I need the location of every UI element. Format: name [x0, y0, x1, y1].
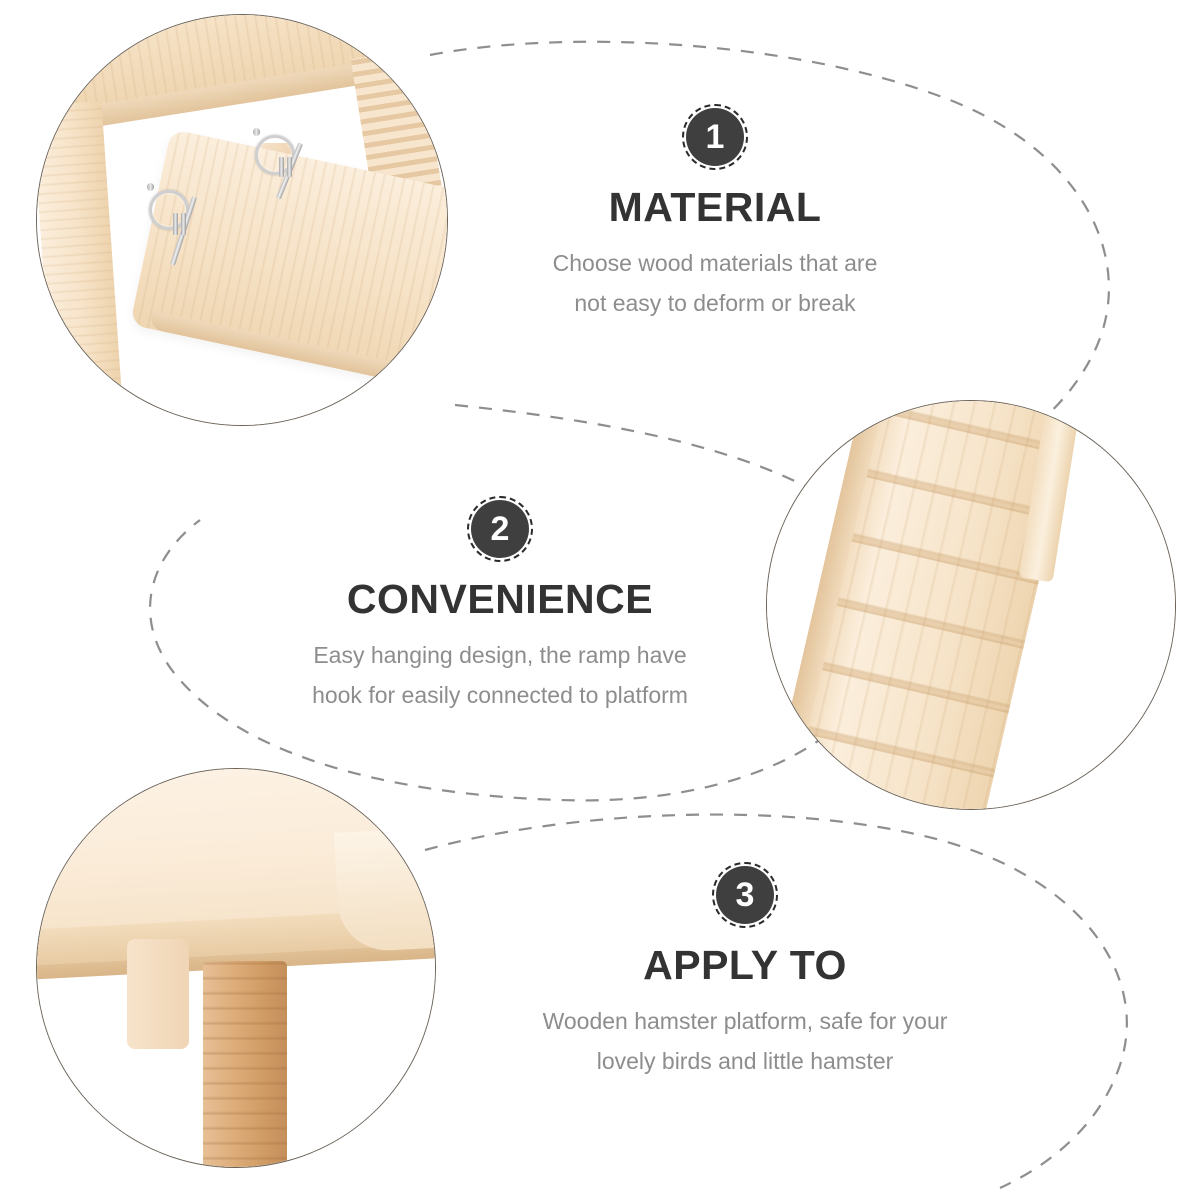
step-3-description: Wooden hamster platform, safe for your l… [495, 1001, 995, 1082]
dowel-leg [203, 961, 287, 1168]
photo-applyto-scene [37, 769, 435, 1167]
step-2-description-line-2: hook for easily connected to platform [242, 675, 758, 715]
step-2: 2 CONVENIENCE Easy hanging design, the r… [242, 496, 758, 716]
photo-applyto-corner [36, 768, 436, 1168]
photo-convenience-ramp [766, 400, 1176, 810]
metal-hook-left-tip [147, 183, 154, 191]
metal-hook-left-stub2 [181, 213, 186, 235]
step-2-badge-number: 2 [471, 500, 529, 558]
metal-hook-right-tip [253, 128, 260, 136]
step-2-description: Easy hanging design, the ramp have hook … [242, 635, 758, 716]
step-1-description-line-2: not easy to deform or break [465, 283, 965, 323]
step-3-description-line-2: lovely birds and little hamster [495, 1041, 995, 1081]
step-2-badge-wrap: 2 [467, 496, 533, 562]
step-2-title: CONVENIENCE [242, 576, 758, 623]
infographic-page: 1 MATERIAL Choose wood materials that ar… [0, 0, 1200, 1200]
step-3-title: APPLY TO [495, 942, 995, 989]
metal-hook-right-stub2 [287, 157, 292, 177]
step-2-description-line-1: Easy hanging design, the ramp have [242, 635, 758, 675]
step-1: 1 MATERIAL Choose wood materials that ar… [465, 104, 965, 324]
photo-material-scene [37, 15, 447, 425]
platform-left-post [36, 101, 124, 426]
step-1-description: Choose wood materials that are not easy … [465, 243, 965, 324]
step-1-badge-wrap: 1 [682, 104, 748, 170]
metal-hook-right-stub [279, 157, 284, 177]
step-3: 3 APPLY TO Wooden hamster platform, safe… [495, 862, 995, 1082]
rear-dowel-leg [127, 939, 189, 1049]
step-3-badge-number: 3 [716, 866, 774, 924]
photo-convenience-scene [767, 401, 1175, 809]
step-3-description-line-1: Wooden hamster platform, safe for your [495, 1001, 995, 1041]
step-1-title: MATERIAL [465, 184, 965, 231]
step-1-description-line-1: Choose wood materials that are [465, 243, 965, 283]
metal-hook-left-stub [173, 213, 178, 235]
step-3-badge-wrap: 3 [712, 862, 778, 928]
step-1-badge-number: 1 [686, 108, 744, 166]
photo-material-hooks [36, 14, 448, 426]
